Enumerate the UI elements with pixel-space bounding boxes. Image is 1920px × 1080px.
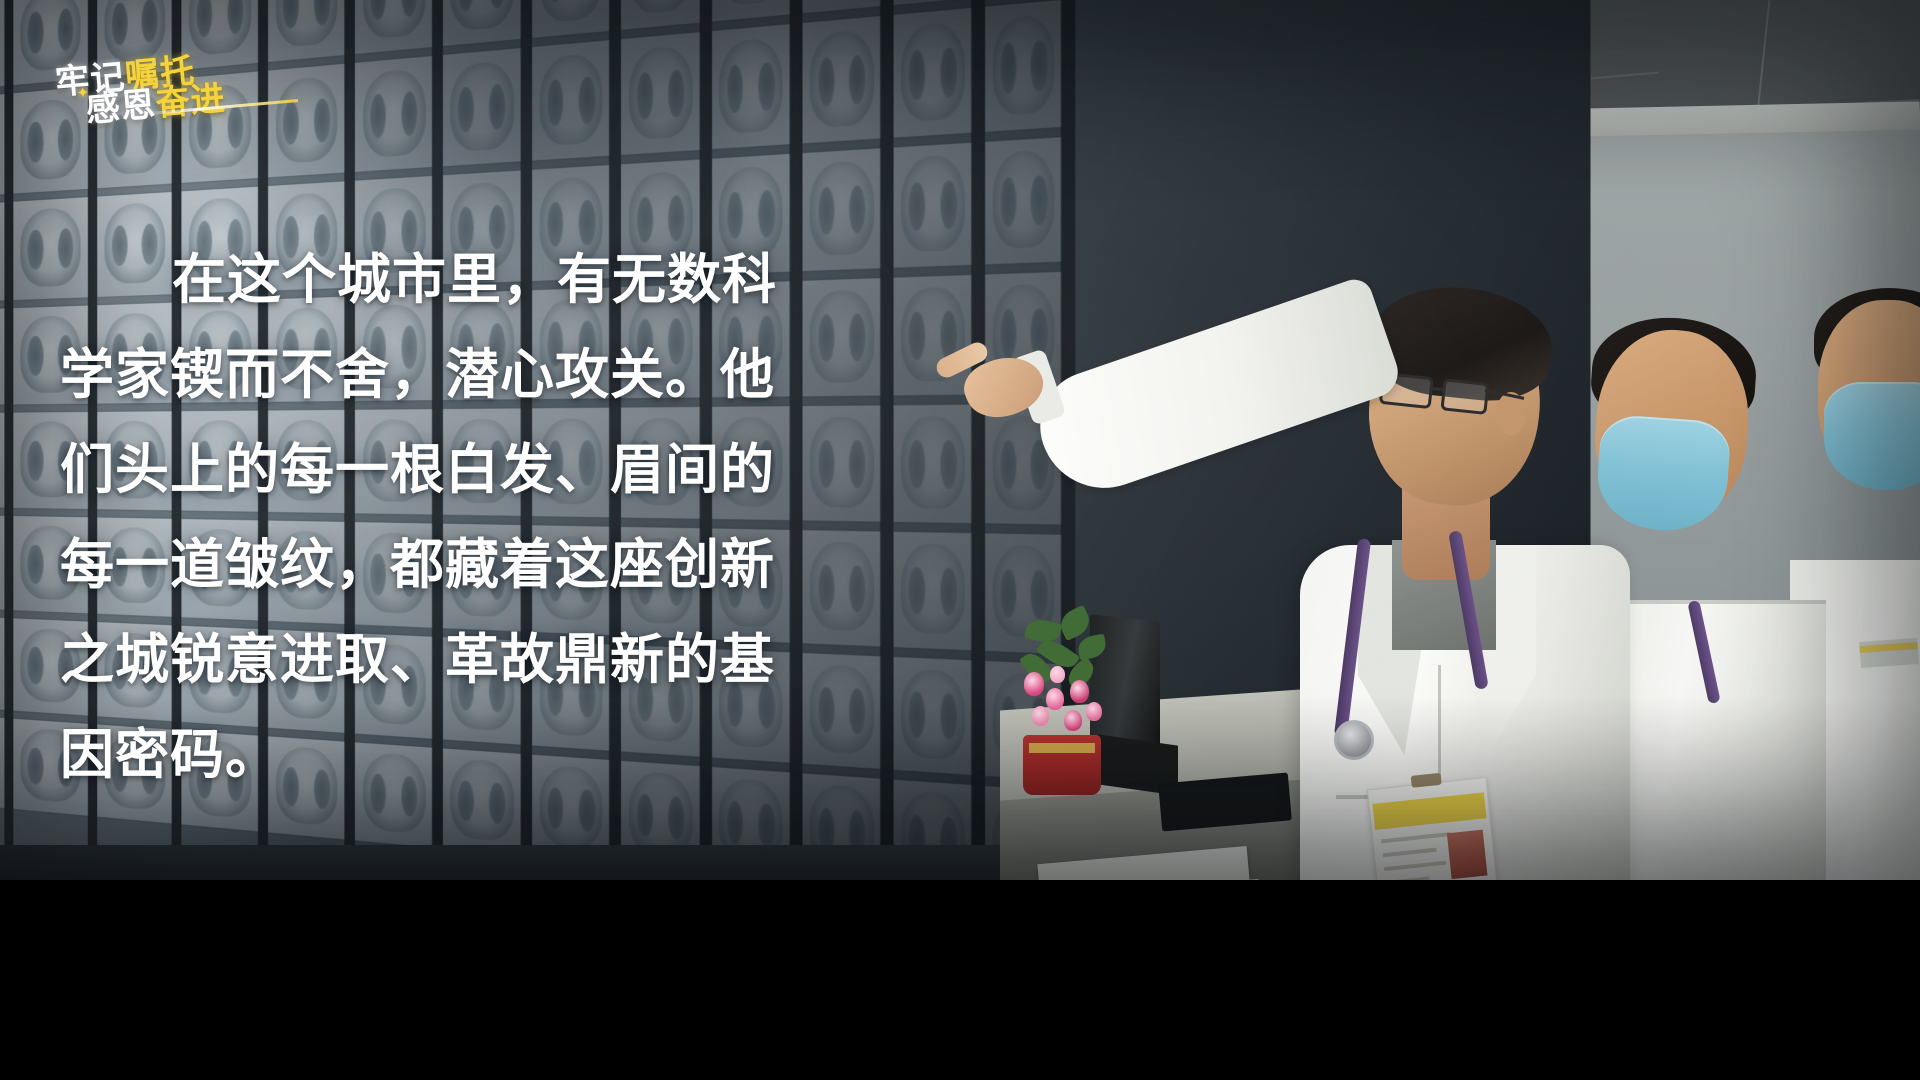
stethoscope-tube — [1687, 600, 1720, 704]
ct-film-sheet — [894, 656, 973, 774]
ct-film-sheet — [985, 136, 1063, 263]
badge-header-band — [1372, 792, 1486, 830]
ct-film-sheet — [802, 16, 881, 143]
badge-photo — [1447, 830, 1488, 880]
flower-bloom — [1050, 666, 1065, 683]
ct-film-sheet — [894, 274, 973, 395]
caption-line: 在这个城市里，有无数科 — [60, 232, 820, 327]
ct-scan-image — [992, 149, 1055, 248]
lightbox-divider — [971, 0, 985, 880]
ct-scan-image — [901, 543, 964, 635]
ct-scan-image — [901, 417, 964, 509]
flower-bloom — [1070, 680, 1089, 703]
ct-film-sheet — [894, 0, 973, 5]
logo-line2-gold: 奋进 — [154, 81, 227, 121]
caption-line: 们头上的每一根白发、眉间的 — [60, 422, 820, 517]
id-badge — [1367, 777, 1497, 880]
eyeglass-lens-right — [1440, 378, 1489, 415]
flower-bouquet — [1020, 610, 1130, 740]
ct-scan-image — [901, 21, 964, 122]
flower-bloom — [1046, 688, 1064, 710]
star-icon: ✦ — [76, 83, 90, 102]
eyeglass-bridge — [1432, 387, 1444, 391]
ct-scan-image — [901, 155, 964, 253]
ct-film-sheet — [894, 405, 973, 523]
ct-film-sheet — [985, 0, 1063, 131]
ct-film-sheet — [894, 8, 973, 137]
logo-line2-white: 感恩 — [85, 87, 158, 127]
ct-film-sheet — [894, 142, 973, 267]
ct-scan-image — [810, 29, 873, 128]
lightbox-divider — [880, 0, 893, 880]
ct-scan-image — [992, 13, 1055, 116]
badge-text-line — [1383, 848, 1437, 858]
floor — [0, 845, 1160, 880]
caption-line: 之城锐意进取、革故鼎新的基 — [60, 612, 820, 707]
screenshot-root: ✦ 牢记 嘱托 感恩 奋进 在这个城市里，有无数科 学家锲而不舍，潜心攻关。他 … — [0, 0, 1920, 1080]
badge-text-line — [1384, 861, 1446, 871]
badge-clip — [1411, 773, 1442, 788]
flower-bloom — [1064, 710, 1082, 731]
ct-film-sheet — [802, 0, 881, 13]
flower-bloom — [1086, 702, 1102, 721]
caption-overlay: 在这个城市里，有无数科 学家锲而不舍，潜心攻关。他 们头上的每一根白发、眉间的 … — [60, 232, 820, 802]
leaf — [1076, 634, 1107, 661]
badge-text-line — [1381, 832, 1451, 843]
caption-line: 学家锲而不舍，潜心攻关。他 — [60, 327, 820, 422]
ct-scan-image — [901, 668, 964, 760]
flower-bloom — [1032, 706, 1049, 726]
ct-film-sheet — [894, 532, 973, 650]
flower-bloom — [1024, 672, 1044, 696]
caption-line: 因密码。 — [60, 707, 820, 802]
lightbox-divider — [4, 0, 13, 880]
letterbox-bottom — [0, 880, 1920, 1080]
caption-line: 每一道皱纹，都藏着这座创新 — [60, 517, 820, 612]
doctor-third-badge — [1859, 638, 1919, 668]
campaign-logo: ✦ 牢记 嘱托 感恩 奋进 — [48, 46, 296, 167]
flower-vase — [1023, 735, 1101, 795]
